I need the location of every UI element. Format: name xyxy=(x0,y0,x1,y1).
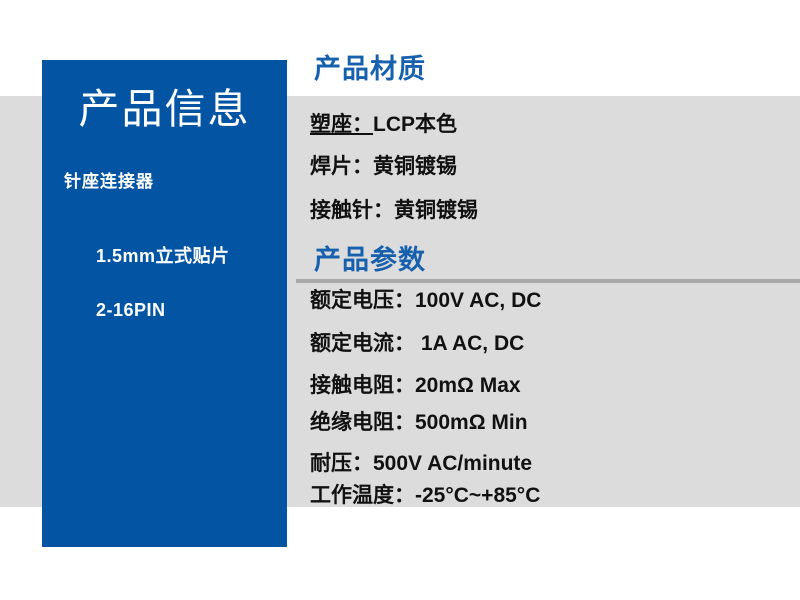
parameter-row-label: 额定电流 xyxy=(310,332,394,355)
parameter-row-separator: ： xyxy=(394,289,415,312)
parameter-row-separator: ： xyxy=(394,411,415,434)
material-row: 接触针：黄铜镀锡 xyxy=(310,198,478,224)
parameter-row-separator: ： xyxy=(394,484,415,507)
parameter-row-value: 100V AC, DC xyxy=(415,289,541,312)
material-row-value: 黄铜镀锡 xyxy=(394,199,478,222)
parameter-row-value: 1A AC, DC xyxy=(415,332,524,355)
parameter-row-value: -25°C~+85°C xyxy=(415,484,540,507)
parameter-row-value: 500V AC/minute xyxy=(373,452,532,475)
parameter-row-label: 接触电阻 xyxy=(310,374,394,397)
section-divider-rule xyxy=(296,279,800,283)
material-row-value: LCP本色 xyxy=(373,113,457,136)
parameter-row-value: 500mΩ Min xyxy=(415,411,528,434)
panel-spec-pincount: 2-16PIN xyxy=(96,298,166,322)
parameter-row-value: 20mΩ Max xyxy=(415,374,521,397)
material-row-label: 焊片 xyxy=(310,155,352,178)
parameter-row-label: 额定电压 xyxy=(310,289,394,312)
material-row: 焊片：黄铜镀锡 xyxy=(310,154,457,180)
parameter-row: 绝缘电阻：500mΩ Min xyxy=(310,410,528,436)
parameter-row: 工作温度：-25°C~+85°C xyxy=(310,483,540,509)
panel-title: 产品信息 xyxy=(42,84,287,134)
material-row-separator: ： xyxy=(352,155,373,178)
material-row-separator: ： xyxy=(352,113,373,136)
section-heading-parameters: 产品参数 xyxy=(314,243,426,277)
panel-spec-size: 1.5mm立式贴片 xyxy=(96,244,230,268)
parameter-row: 额定电压：100V AC, DC xyxy=(310,288,541,314)
product-info-panel: 产品信息 针座连接器 1.5mm立式贴片 2-16PIN xyxy=(42,60,287,547)
panel-subtitle: 针座连接器 xyxy=(64,170,154,194)
section-heading-material: 产品材质 xyxy=(314,52,426,86)
material-row-label: 塑座 xyxy=(310,113,352,136)
parameter-row-separator: ： xyxy=(394,332,415,355)
content-column: 产品材质 塑座：LCP本色 焊片：黄铜镀锡 接触针：黄铜镀锡 产品参数 额定电压… xyxy=(296,0,800,600)
parameter-row: 接触电阻：20mΩ Max xyxy=(310,373,521,399)
parameter-row-label: 耐压 xyxy=(310,452,352,475)
parameter-row-label: 绝缘电阻 xyxy=(310,411,394,434)
parameter-row-separator: ： xyxy=(394,374,415,397)
parameter-row-label: 工作温度 xyxy=(310,484,394,507)
parameter-row: 额定电流： 1A AC, DC xyxy=(310,331,524,357)
product-info-slide: 产品信息 针座连接器 1.5mm立式贴片 2-16PIN 产品材质 塑座：LCP… xyxy=(0,0,800,600)
material-row-value: 黄铜镀锡 xyxy=(373,155,457,178)
material-row-separator: ： xyxy=(373,199,394,222)
material-row-label: 接触针 xyxy=(310,199,373,222)
material-row: 塑座：LCP本色 xyxy=(310,112,457,138)
parameter-row: 耐压：500V AC/minute xyxy=(310,451,532,477)
parameter-row-separator: ： xyxy=(352,452,373,475)
